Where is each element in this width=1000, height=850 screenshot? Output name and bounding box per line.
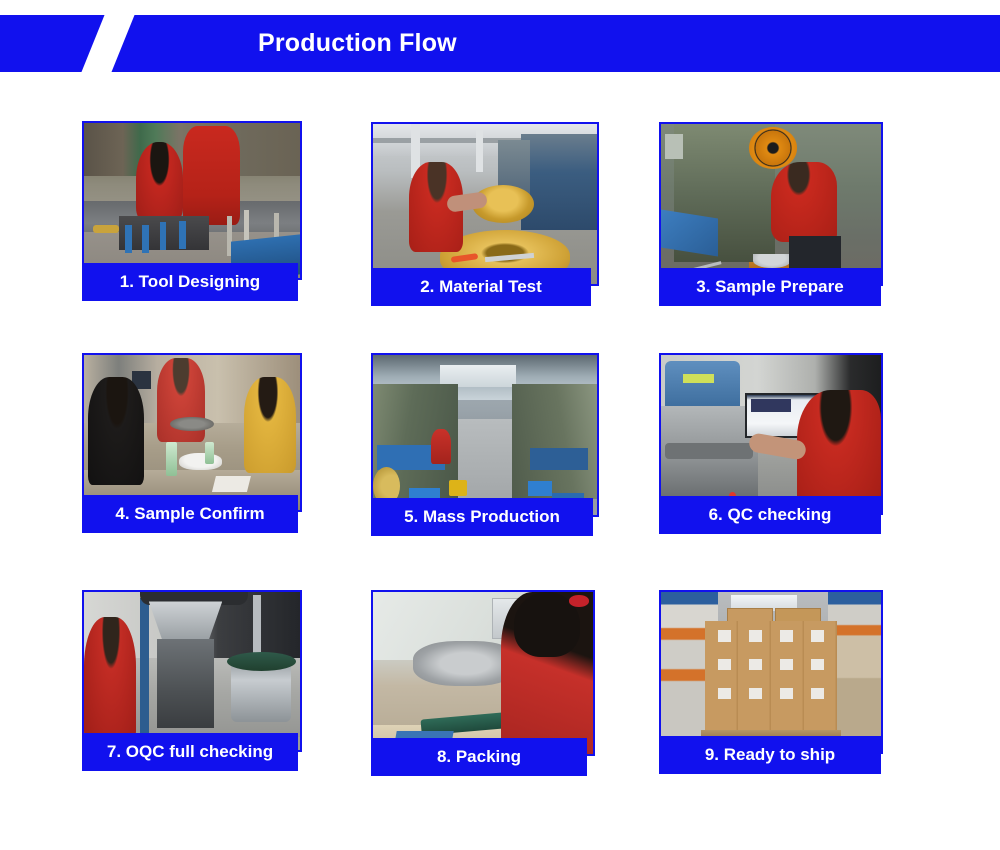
flow-step-label-1: 1. Tool Designing xyxy=(82,263,298,301)
flow-step-card-6[interactable]: 6. QC checking xyxy=(659,353,879,515)
flow-step-photo-2 xyxy=(371,122,599,286)
flow-step-card-4[interactable]: 4. Sample Confirm xyxy=(82,353,302,512)
flow-step-card-5[interactable]: 5. Mass Production xyxy=(371,353,591,517)
flow-step-photo-9 xyxy=(659,590,883,754)
flow-step-label-8: 8. Packing xyxy=(371,738,587,776)
page-header-banner: Production Flow xyxy=(0,15,1000,72)
flow-step-label-4: 4. Sample Confirm xyxy=(82,495,298,533)
flow-step-photo-4 xyxy=(82,353,302,512)
flow-step-photo-6 xyxy=(659,353,883,515)
flow-step-label-6: 6. QC checking xyxy=(659,496,881,534)
flow-step-card-2[interactable]: 2. Material Test xyxy=(371,122,591,286)
flow-step-label-7: 7. OQC full checking xyxy=(82,733,298,771)
flow-step-card-1[interactable]: 1. Tool Designing xyxy=(82,121,302,280)
flow-step-card-7[interactable]: 7. OQC full checking xyxy=(82,590,302,752)
flow-step-label-9: 9. Ready to ship xyxy=(659,736,881,774)
flow-step-label-5: 5. Mass Production xyxy=(371,498,593,536)
flow-step-photo-3 xyxy=(659,122,883,286)
flow-step-photo-7 xyxy=(82,590,302,752)
flow-step-label-2: 2. Material Test xyxy=(371,268,591,306)
flow-step-label-3: 3. Sample Prepare xyxy=(659,268,881,306)
flow-step-photo-8 xyxy=(371,590,595,756)
flow-step-card-9[interactable]: 9. Ready to ship xyxy=(659,590,879,754)
flow-step-photo-1 xyxy=(82,121,302,280)
flow-step-card-3[interactable]: 3. Sample Prepare xyxy=(659,122,879,286)
production-flow-grid: 1. Tool Designing 2. Material Test xyxy=(0,90,1000,830)
page-title: Production Flow xyxy=(258,15,457,72)
flow-step-card-8[interactable]: 8. Packing xyxy=(371,590,591,756)
flow-step-photo-5 xyxy=(371,353,599,517)
